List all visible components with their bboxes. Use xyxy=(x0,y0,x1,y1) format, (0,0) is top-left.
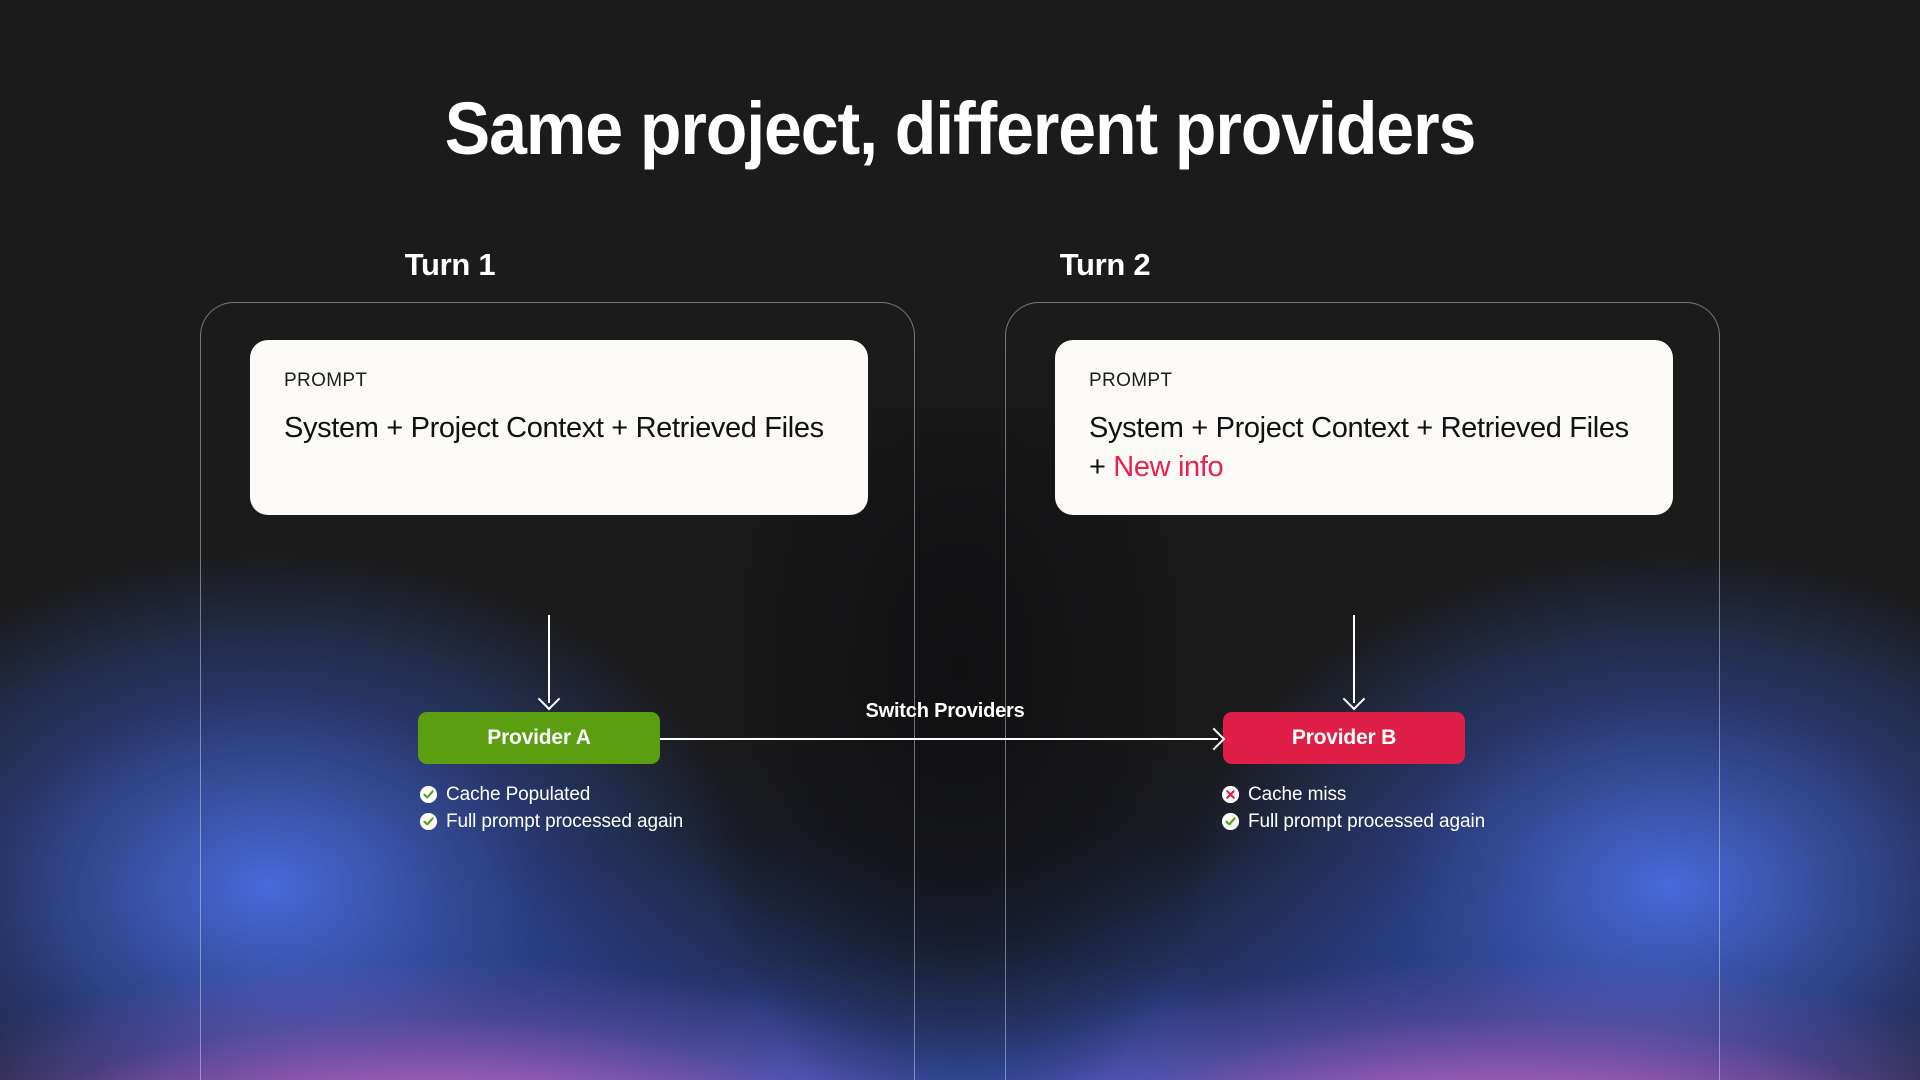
turn-1-heading: Turn 1 xyxy=(320,247,580,283)
arrow-head xyxy=(1343,688,1366,711)
arrow-down-turn-1-icon xyxy=(538,615,560,715)
cross-circle-icon xyxy=(1222,786,1239,803)
prompt-card-turn-2: PROMPT System + Project Context + Retrie… xyxy=(1055,340,1673,515)
arrow-shaft xyxy=(660,738,1218,740)
diagram-canvas: Same project, different providers Turn 1… xyxy=(0,0,1920,1080)
prompt-eyebrow-turn-2: PROMPT xyxy=(1089,370,1639,392)
prompt-eyebrow-turn-1: PROMPT xyxy=(284,370,834,392)
provider-b-label: Provider B xyxy=(1292,726,1396,750)
status-row: Full prompt processed again xyxy=(420,809,683,834)
status-row: Full prompt processed again xyxy=(1222,809,1485,834)
status-text: Cache Populated xyxy=(446,784,590,806)
prompt-accent-turn-2: New info xyxy=(1113,451,1223,483)
turn-2-heading: Turn 2 xyxy=(975,247,1235,283)
status-row: Cache Populated xyxy=(420,782,683,807)
check-circle-icon xyxy=(420,786,437,803)
status-text: Full prompt processed again xyxy=(446,811,683,833)
page-title: Same project, different providers xyxy=(77,92,1843,166)
provider-a-node[interactable]: Provider A xyxy=(418,712,660,764)
status-list-turn-1: Cache Populated Full prompt processed ag… xyxy=(420,782,683,836)
prompt-body-turn-2: System + Project Context + Retrieved Fil… xyxy=(1089,409,1639,486)
prompt-body-turn-1: System + Project Context + Retrieved Fil… xyxy=(284,409,834,448)
provider-a-label: Provider A xyxy=(487,726,590,750)
status-text: Full prompt processed again xyxy=(1248,811,1485,833)
arrow-head xyxy=(1203,728,1226,751)
prompt-text-turn-1: System + Project Context + Retrieved Fil… xyxy=(284,412,824,444)
arrow-down-turn-2-icon xyxy=(1343,615,1365,715)
check-circle-icon xyxy=(420,813,437,830)
prompt-card-turn-1: PROMPT System + Project Context + Retrie… xyxy=(250,340,868,515)
provider-b-node[interactable]: Provider B xyxy=(1223,712,1465,764)
status-list-turn-2: Cache miss Full prompt processed again xyxy=(1222,782,1485,836)
status-row: Cache miss xyxy=(1222,782,1485,807)
arrow-head xyxy=(538,688,561,711)
switch-providers-arrow: Switch Providers xyxy=(660,700,1230,778)
check-circle-icon xyxy=(1222,813,1239,830)
status-text: Cache miss xyxy=(1248,784,1346,806)
switch-providers-label: Switch Providers xyxy=(660,700,1230,723)
